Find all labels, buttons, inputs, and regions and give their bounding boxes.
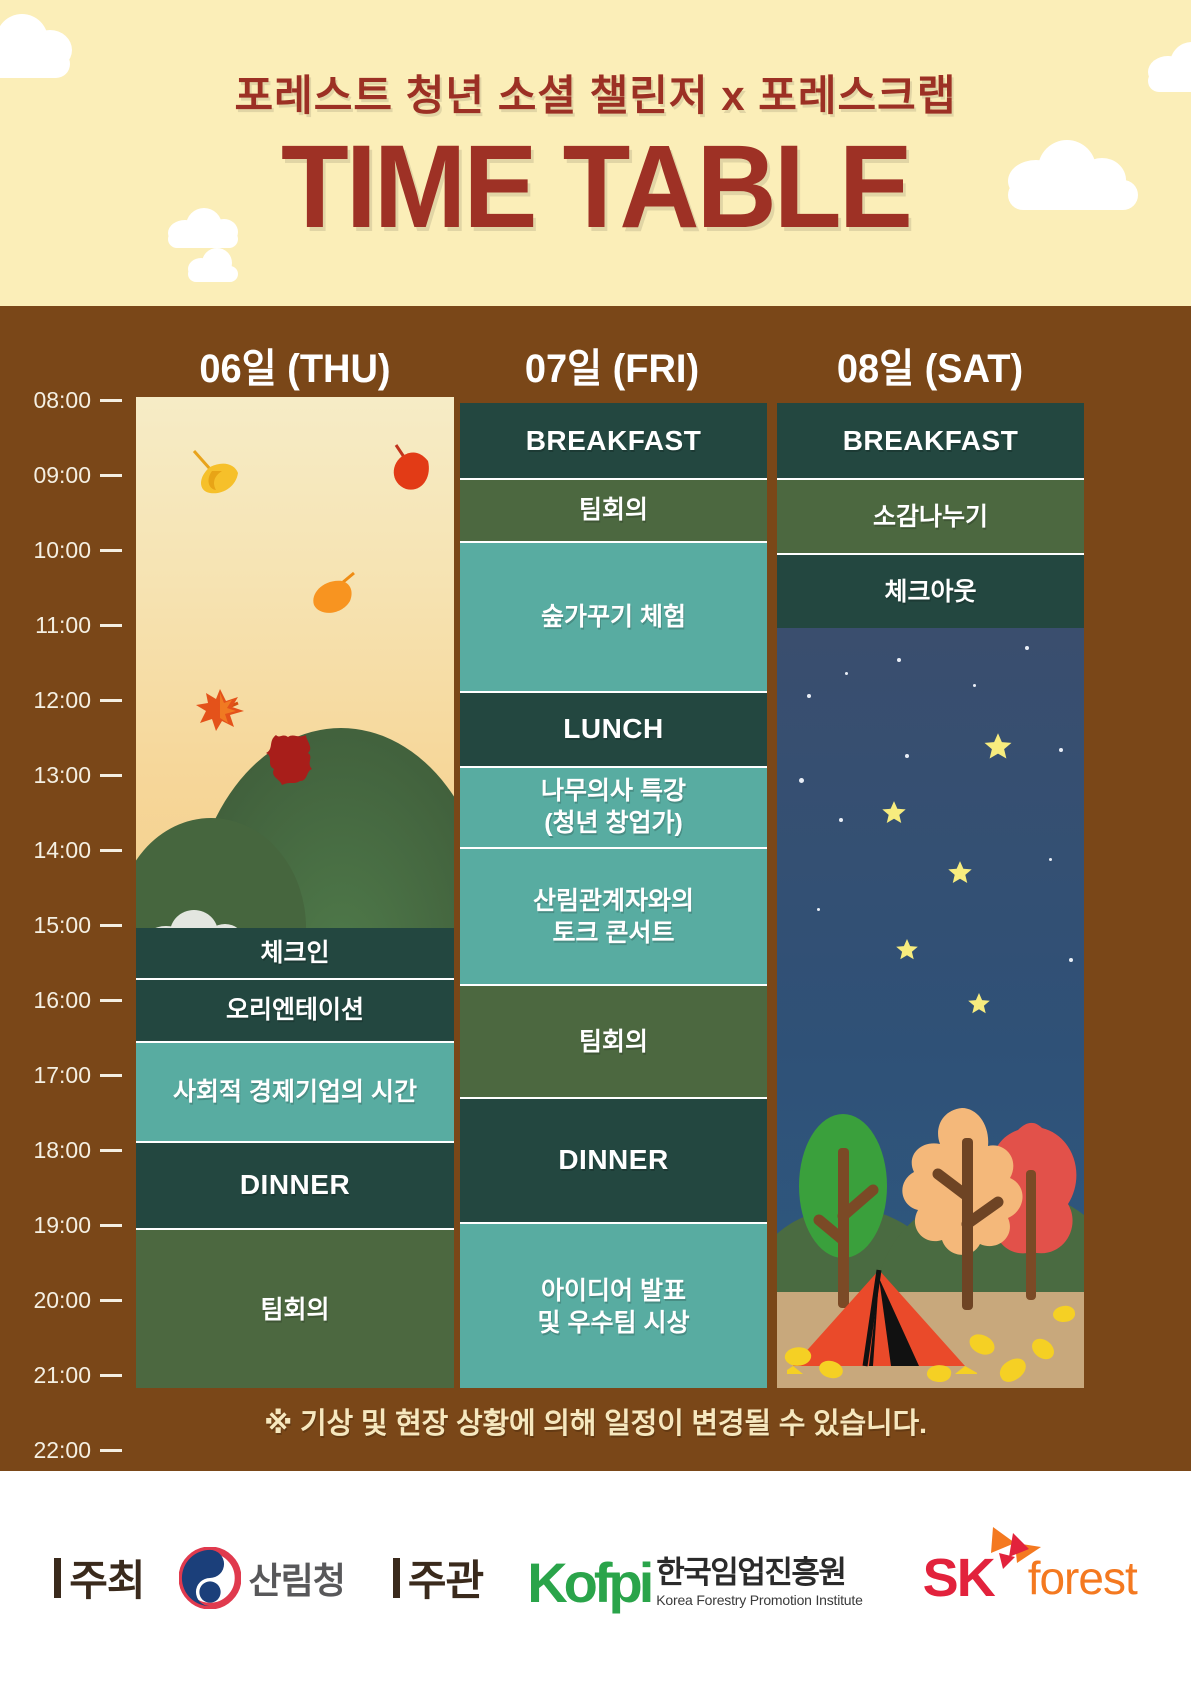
host-label-text: 주최 xyxy=(69,1547,144,1608)
star-dot-icon xyxy=(845,672,848,675)
schedule-block[interactable]: 팀회의 xyxy=(460,478,767,541)
time-tick: 16:00 xyxy=(33,987,122,1014)
schedule-block[interactable]: 숲가꾸기 체험 xyxy=(460,541,767,691)
tent-icon xyxy=(787,1266,977,1376)
tick-dash-icon xyxy=(100,699,122,702)
schedule-block-label: 사회적 경제기업의 시간 xyxy=(173,1076,417,1108)
poster-header: 포레스트 청년 소셜 챌린저 x 포레스크랩 TIME TABLE xyxy=(0,0,1191,306)
schedule-block[interactable]: DINNER xyxy=(460,1097,767,1222)
page-title: TIME TABLE xyxy=(36,128,1156,246)
schedule-block[interactable]: 소감나누기 xyxy=(777,478,1084,553)
schedule-block-label: 소감나누기 xyxy=(873,501,988,533)
time-tick: 18:00 xyxy=(33,1137,122,1164)
schedule-block[interactable]: DINNER xyxy=(136,1141,454,1229)
tick-dash-icon xyxy=(100,999,122,1002)
schedule-block[interactable]: 산림관계자와의토크 콘서트 xyxy=(460,847,767,985)
schedule-board: 06일 (THU) 07일 (FRI) 08일 (SAT) 08:0009:00… xyxy=(0,306,1191,1471)
ginkgo-leaf-icon xyxy=(188,447,244,497)
time-tick: 14:00 xyxy=(33,837,122,864)
star-dot-icon xyxy=(1049,858,1052,861)
sk-forest-logo: SK forest xyxy=(923,1547,1137,1609)
schedule-block-label: 팀회의 xyxy=(579,1026,648,1058)
star-dot-icon xyxy=(905,754,909,758)
schedule-block[interactable]: 오리엔테이션 xyxy=(136,978,454,1041)
day-header-sat: 08일 (SAT) xyxy=(783,336,1078,394)
time-tick: 19:00 xyxy=(33,1212,122,1239)
star-dot-icon xyxy=(839,818,843,822)
kofpi-korean-name: 한국임업진흥원 xyxy=(656,1547,862,1592)
star-icon-5 xyxy=(967,992,991,1016)
star-dot-icon xyxy=(817,908,820,911)
schedule-block[interactable]: 나무의사 특강(청년 창업가) xyxy=(460,766,767,847)
schedule-block-label: 아이디어 발표및 우수팀 시상 xyxy=(538,1275,690,1339)
star-dot-icon xyxy=(897,658,901,662)
schedule-block[interactable]: LUNCH xyxy=(460,691,767,766)
schedule-block-label: LUNCH xyxy=(563,711,664,747)
day-column-thu: 체크인오리엔테이션사회적 경제기업의 시간DINNER팀회의소통의 밤 xyxy=(136,397,454,1388)
tick-dash-icon xyxy=(100,924,122,927)
tick-dash-icon xyxy=(100,549,122,552)
schedule-block-label: BREAKFAST xyxy=(843,423,1019,459)
kofpi-logo: Kofpi 한국임업진흥원 Korea Forestry Promotion I… xyxy=(527,1547,862,1608)
korea-government-mark-icon xyxy=(179,1547,241,1609)
day-column-sat: BREAKFAST소감나누기체크아웃 xyxy=(777,397,1084,1388)
time-tick: 08:00 xyxy=(33,387,122,414)
day-column-fri: BREAKFAST팀회의숲가꾸기 체험LUNCH나무의사 특강(청년 창업가)산… xyxy=(460,397,767,1388)
organizer-label-text: 주관 xyxy=(408,1547,483,1608)
label-accent-bar xyxy=(393,1558,400,1598)
host-name-text: 산림청 xyxy=(249,1552,345,1604)
sk-butterfly-icon xyxy=(975,1523,1045,1577)
tick-dash-icon xyxy=(100,1299,122,1302)
time-tick: 12:00 xyxy=(33,687,122,714)
schedule-block-label: DINNER xyxy=(240,1167,350,1203)
tick-dash-icon xyxy=(100,474,122,477)
time-tick: 13:00 xyxy=(33,762,122,789)
maple-leaf-icon xyxy=(194,687,248,733)
schedule-block[interactable]: BREAKFAST xyxy=(460,403,767,478)
autumn-sky-illustration xyxy=(136,397,454,928)
time-axis: 08:0009:0010:0011:0012:0013:0014:0015:00… xyxy=(0,306,130,1471)
schedule-block-label: 오리엔테이션 xyxy=(226,994,364,1026)
schedule-block[interactable]: 팀회의 xyxy=(136,1228,454,1388)
day-header-fri: 07일 (FRI) xyxy=(465,336,760,394)
kofpi-english-name: Korea Forestry Promotion Institute xyxy=(656,1592,862,1608)
star-dot-icon xyxy=(973,684,976,687)
schedule-block-label: 팀회의 xyxy=(579,494,648,526)
star-dot-icon xyxy=(1025,646,1029,650)
label-accent-bar xyxy=(54,1558,61,1598)
tick-dash-icon xyxy=(100,399,122,402)
schedule-block-label: 산림관계자와의토크 콘서트 xyxy=(533,885,694,949)
tick-dash-icon xyxy=(100,1074,122,1077)
star-dot-icon xyxy=(1059,748,1063,752)
time-tick: 21:00 xyxy=(33,1362,122,1389)
korea-forest-service-logo: 산림청 xyxy=(179,1547,345,1609)
star-dot-icon xyxy=(799,778,804,783)
night-camping-illustration xyxy=(777,628,1084,1388)
schedule-block[interactable]: 체크인 xyxy=(136,928,454,978)
time-tick: 10:00 xyxy=(33,537,122,564)
star-dot-icon xyxy=(807,694,811,698)
schedule-block[interactable]: 사회적 경제기업의 시간 xyxy=(136,1041,454,1141)
star-icon-1 xyxy=(983,732,1013,762)
time-tick: 20:00 xyxy=(33,1287,122,1314)
time-tick: 17:00 xyxy=(33,1062,122,1089)
time-tick: 09:00 xyxy=(33,462,122,489)
tick-dash-icon xyxy=(100,1149,122,1152)
star-icon-4 xyxy=(895,938,919,962)
star-dot-icon xyxy=(1069,958,1073,962)
oak-leaf-icon xyxy=(262,731,320,787)
sponsor-bar: 주최 산림청 주관 Kofpi 한국임업진흥원 Korea Forestry P… xyxy=(0,1471,1191,1684)
time-tick: 11:00 xyxy=(35,612,122,639)
schedule-block-label: 체크아웃 xyxy=(884,576,976,608)
schedule-block-label: 나무의사 특강(청년 창업가) xyxy=(541,775,686,839)
poster-subtitle: 포레스트 청년 소셜 챌린저 x 포레스크랩 xyxy=(0,62,1191,123)
schedule-block-label: 숲가꾸기 체험 xyxy=(541,601,686,633)
schedule-block-label: BREAKFAST xyxy=(526,423,702,459)
time-tick: 15:00 xyxy=(33,912,122,939)
schedule-block[interactable]: 체크아웃 xyxy=(777,553,1084,628)
tick-dash-icon xyxy=(100,1224,122,1227)
orange-leaf-icon xyxy=(304,569,360,619)
disclaimer-note: ※ 기상 및 현장 상황에 의해 일정이 변경될 수 있습니다. xyxy=(0,1400,1191,1442)
schedule-block-label: 체크인 xyxy=(260,937,329,969)
tick-dash-icon xyxy=(100,1449,122,1452)
tick-dash-icon xyxy=(100,849,122,852)
kofpi-names: 한국임업진흥원 Korea Forestry Promotion Institu… xyxy=(656,1547,862,1608)
organizer-label: 주관 xyxy=(393,1547,483,1608)
timetable-poster: 포레스트 청년 소셜 챌린저 x 포레스크랩 TIME TABLE 06일 (T… xyxy=(0,0,1191,1684)
schedule-block[interactable]: 아이디어 발표및 우수팀 시상 xyxy=(460,1222,767,1388)
star-icon-2 xyxy=(881,800,907,826)
tick-dash-icon xyxy=(100,1374,122,1377)
schedule-block[interactable]: BREAKFAST xyxy=(777,403,1084,478)
tick-dash-icon xyxy=(100,624,122,627)
star-icon-3 xyxy=(947,860,973,886)
schedule-block-label: 팀회의 xyxy=(260,1294,329,1326)
schedule-block[interactable]: 팀회의 xyxy=(460,984,767,1097)
day-header-thu: 06일 (THU) xyxy=(138,336,452,394)
tick-dash-icon xyxy=(100,774,122,777)
kofpi-wordmark: Kofpi xyxy=(527,1558,650,1608)
schedule-block-label: DINNER xyxy=(558,1142,668,1178)
red-leaf-icon xyxy=(388,441,434,495)
host-label: 주최 xyxy=(54,1547,144,1608)
